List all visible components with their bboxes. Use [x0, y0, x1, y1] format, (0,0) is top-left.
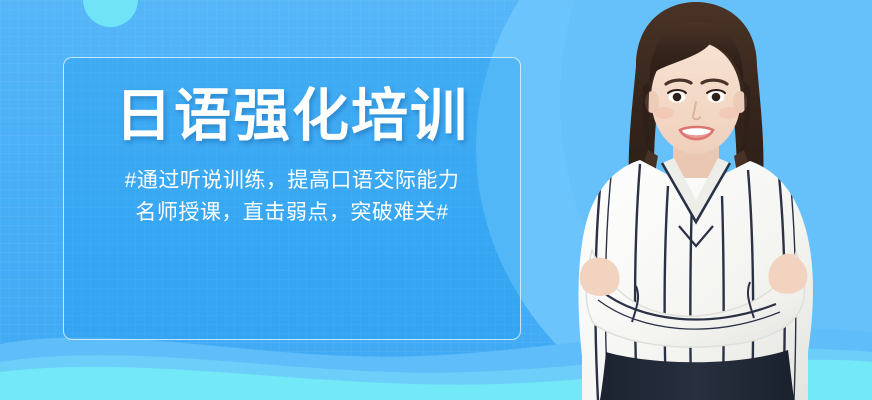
pupil-left: [673, 93, 682, 102]
japanese-course-banner: 日语强化培训 #通过听说训练，提高口语交际能力 名师授课，直击弱点，突破难关#: [0, 0, 872, 400]
blush-right: [719, 107, 739, 119]
subtitle-line-1: #通过听说训练，提高口语交际能力: [125, 165, 460, 198]
subtitle-line-2: 名师授课，直击弱点，突破难关#: [125, 197, 460, 230]
blush-left: [654, 107, 674, 119]
subtitle-block: #通过听说训练，提高口语交际能力 名师授课，直击弱点，突破难关#: [125, 165, 460, 230]
page-title: 日语强化培训: [115, 87, 469, 147]
person-photo: [540, 0, 872, 400]
pupil-right: [712, 93, 721, 102]
text-panel-content: 日语强化培训 #通过听说训练，提高口语交际能力 名师授课，直击弱点，突破难关#: [63, 57, 521, 340]
